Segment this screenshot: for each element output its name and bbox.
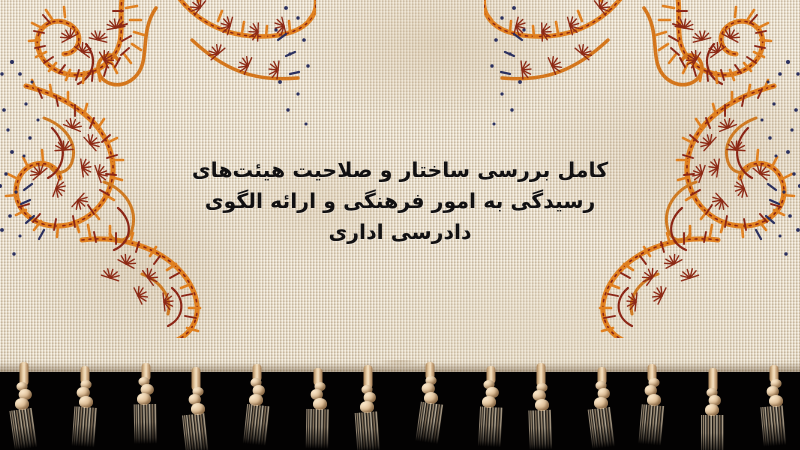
tassel bbox=[174, 367, 218, 450]
tassel bbox=[630, 364, 674, 450]
slide-canvas: کامل بررسی ساختار و صلاحیت هیئت‌های رسید… bbox=[0, 0, 800, 450]
tassel-fringe bbox=[0, 360, 800, 450]
tassel bbox=[235, 364, 279, 450]
tassel-skirt bbox=[587, 406, 618, 449]
tassel bbox=[752, 365, 796, 450]
tassel-skirt bbox=[70, 406, 99, 448]
tassel bbox=[346, 365, 390, 450]
tassel-skirt bbox=[414, 401, 445, 444]
tassel bbox=[691, 368, 735, 450]
tassel bbox=[296, 368, 340, 450]
tassel bbox=[469, 366, 513, 450]
tassel-skirt bbox=[527, 409, 554, 450]
tassel-skirt bbox=[760, 404, 789, 446]
tassel bbox=[63, 366, 107, 450]
title-line-3: دادرسی اداری bbox=[0, 217, 800, 248]
tassel bbox=[2, 362, 46, 450]
tassel-skirt bbox=[305, 408, 332, 448]
title-line-1: کامل بررسی ساختار و صلاحیت هیئت‌های bbox=[0, 155, 800, 186]
title-line-2: رسیدگی به امور فرهنگی و ارائه الگوی bbox=[0, 186, 800, 217]
tassel-skirt bbox=[700, 415, 726, 450]
tassel bbox=[519, 363, 563, 450]
slide-title: کامل بررسی ساختار و صلاحیت هیئت‌های رسید… bbox=[0, 155, 800, 248]
tassel-skirt bbox=[477, 406, 505, 447]
tassel-skirt bbox=[354, 411, 383, 450]
tassel bbox=[408, 362, 452, 450]
tassel-skirt bbox=[637, 403, 666, 445]
tassel bbox=[580, 367, 624, 450]
tassel-skirt bbox=[132, 403, 159, 443]
tassel-skirt bbox=[8, 407, 39, 450]
tassel-skirt bbox=[242, 403, 272, 445]
tassel-skirt bbox=[181, 412, 211, 450]
tassel bbox=[124, 363, 168, 450]
